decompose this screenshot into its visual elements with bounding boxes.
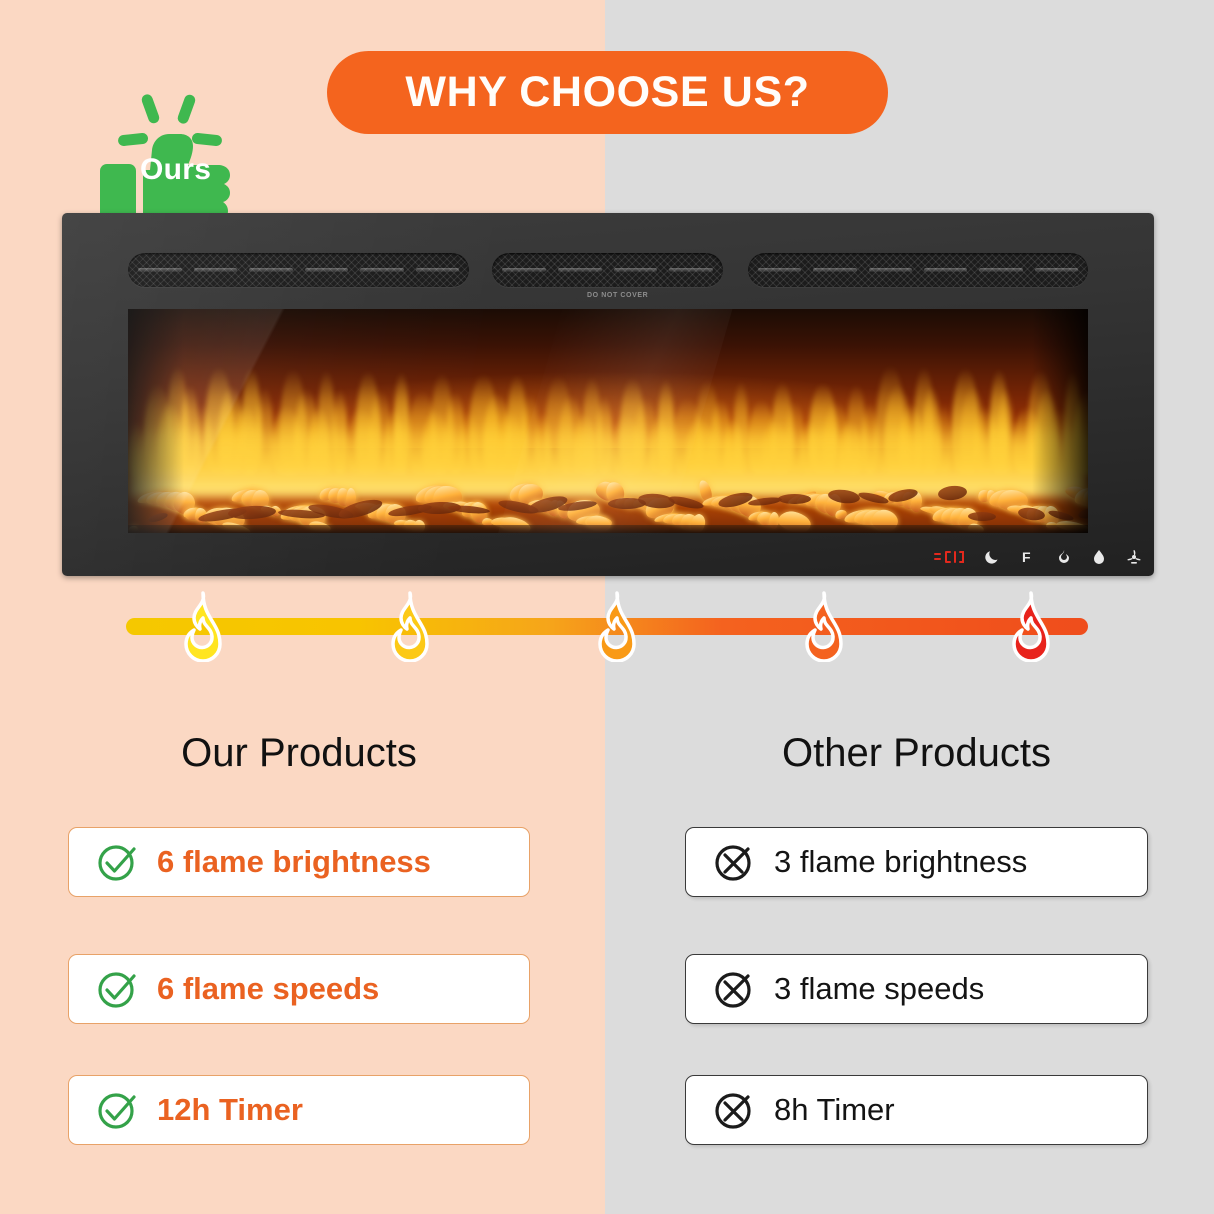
droplet-icon[interactable]: [1093, 549, 1105, 565]
vent-grille-right: [748, 253, 1088, 287]
ember-bed: [128, 471, 1088, 533]
feature-label: 6 flame brightness: [157, 844, 431, 880]
window-floor: [128, 525, 1088, 533]
scale-flame-icon-5: [1001, 590, 1061, 662]
feature-label: 6 flame speeds: [157, 971, 379, 1007]
x-circle-icon: [712, 840, 756, 884]
x-circle-icon: [712, 967, 756, 1011]
feature-label: 8h Timer: [774, 1092, 895, 1128]
check-circle-icon: [95, 840, 139, 884]
scale-flame-icon-3: [587, 590, 647, 662]
check-circle-icon: [95, 967, 139, 1011]
infographic-page: WHY CHOOSE US? Ours DO NOT COVER: [0, 0, 1214, 1214]
scale-flame-icon-1: [173, 590, 233, 662]
svg-text:F: F: [1022, 549, 1031, 565]
ours-feature-row: 6 flame speeds: [68, 954, 530, 1024]
feature-label: 3 flame brightness: [774, 844, 1027, 880]
other-products-heading: Other Products: [685, 731, 1148, 776]
feature-label: 3 flame speeds: [774, 971, 984, 1007]
scale-flame-icon-2: [380, 590, 440, 662]
flame-display-window: [128, 309, 1088, 533]
other-feature-row: 8h Timer: [685, 1075, 1148, 1145]
ours-label: Ours: [140, 153, 211, 187]
control-panel[interactable]: F: [934, 549, 1154, 565]
our-products-heading: Our Products: [68, 731, 530, 776]
background-left-panel: [0, 0, 605, 1214]
thumbs-up-icon: [96, 76, 238, 222]
fan-icon[interactable]: [1126, 549, 1142, 565]
title-banner: WHY CHOOSE US?: [327, 51, 888, 134]
flame-icon[interactable]: [1056, 549, 1072, 565]
fireplace-product-image: DO NOT COVER: [62, 213, 1154, 576]
ours-feature-row: 12h Timer: [68, 1075, 530, 1145]
ours-badge: Ours: [96, 76, 238, 222]
scale-flame-icon-4: [794, 590, 854, 662]
vent-grille-center: [492, 253, 723, 287]
feature-label: 12h Timer: [157, 1092, 303, 1128]
other-feature-row: 3 flame speeds: [685, 954, 1148, 1024]
window-shadow-left: [128, 309, 184, 533]
background-right-panel: [605, 0, 1214, 1214]
flame-intensity-scale: [126, 612, 1088, 640]
x-circle-icon: [712, 1088, 756, 1132]
other-feature-row: 3 flame brightness: [685, 827, 1148, 897]
check-circle-icon: [95, 1088, 139, 1132]
window-shadow-right: [1032, 309, 1088, 533]
do-not-cover-label: DO NOT COVER: [587, 292, 648, 299]
timer-moon-icon[interactable]: [985, 549, 1001, 565]
display-digits: [934, 550, 964, 564]
fahrenheit-icon[interactable]: F: [1022, 549, 1035, 565]
vent-grille-left: [128, 253, 469, 287]
page-title: WHY CHOOSE US?: [405, 68, 809, 117]
ours-feature-row: 6 flame brightness: [68, 827, 530, 897]
